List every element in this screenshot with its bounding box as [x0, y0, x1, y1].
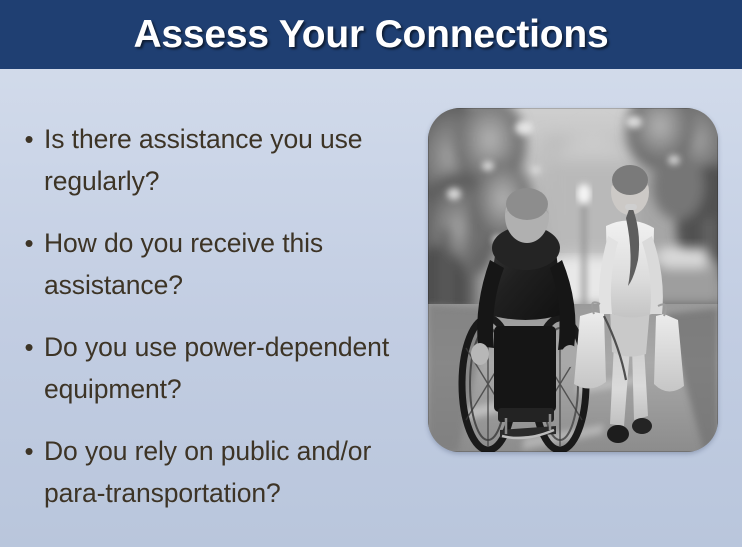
bullet-dot-icon: •: [14, 222, 44, 264]
photo-wheelchair-seat: [494, 326, 556, 412]
bullet-dot-icon: •: [14, 430, 44, 472]
title-banner: Assess Your Connections: [0, 0, 742, 69]
list-item: • How do you receive this assistance?: [14, 222, 414, 306]
photo-woman-shoe-right: [632, 418, 652, 434]
list-item: • Do you rely on public and/or para-tran…: [14, 430, 414, 514]
bullet-dot-icon: •: [14, 326, 44, 368]
bullet-dot-icon: •: [14, 118, 44, 160]
slide-canvas: Assess Your Connections • Is there assis…: [0, 0, 742, 547]
slide-title: Assess Your Connections: [0, 0, 742, 69]
bullet-text: Do you rely on public and/or para-transp…: [44, 430, 414, 514]
bullet-text: How do you receive this assistance?: [44, 222, 414, 306]
photo-illustration: [428, 108, 718, 452]
bullet-text: Is there assistance you use regularly?: [44, 118, 414, 202]
photo-woman-shoe-left: [607, 425, 629, 443]
list-item: • Do you use power-dependent equipment?: [14, 326, 414, 410]
wheelchair-street-photo: [428, 108, 718, 452]
bullet-text: Do you use power-dependent equipment?: [44, 326, 414, 410]
list-item: • Is there assistance you use regularly?: [14, 118, 414, 202]
bullet-list: • Is there assistance you use regularly?…: [14, 118, 414, 534]
